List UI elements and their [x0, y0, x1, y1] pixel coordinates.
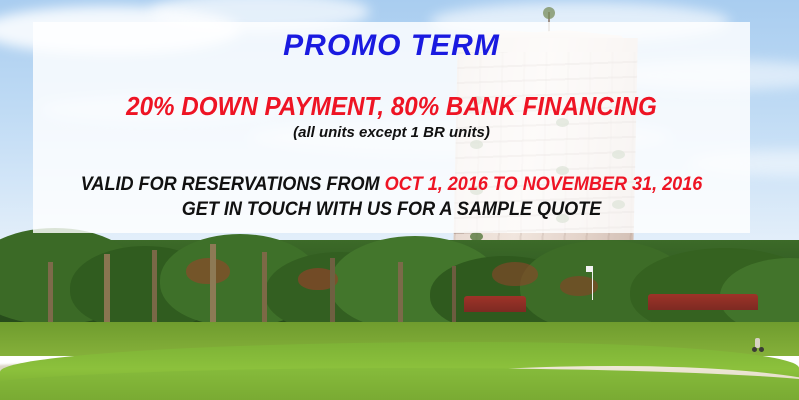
validity-dates: OCT 1, 2016 TO NOVEMBER 31, 2016 [385, 174, 703, 195]
validity-prefix: VALID FOR RESERVATIONS FROM [81, 174, 385, 195]
promo-subnote: (all units except 1 BR units) [33, 124, 750, 141]
golf-trolley [752, 338, 764, 352]
trolley-wheel [759, 347, 764, 352]
cta-line: GET IN TOUCH WITH US FOR A SAMPLE QUOTE [51, 199, 732, 221]
trolley-wheel [752, 347, 757, 352]
flag [586, 266, 593, 272]
flowering-tree [492, 262, 538, 286]
promo-banner: PROMO TERM 20% DOWN PAYMENT, 80% BANK FI… [0, 0, 799, 400]
pavilion-roof [464, 296, 526, 312]
pavilion-roof [648, 294, 758, 310]
promo-headline: 20% DOWN PAYMENT, 80% BANK FINANCING [58, 91, 725, 122]
promo-text-block: PROMO TERM 20% DOWN PAYMENT, 80% BANK FI… [33, 22, 750, 233]
validity-line: VALID FOR RESERVATIONS FROM OCT 1, 2016 … [51, 174, 732, 196]
page-title: PROMO TERM [33, 29, 750, 63]
foreground-grass [0, 368, 799, 400]
flowering-tree [186, 258, 230, 284]
